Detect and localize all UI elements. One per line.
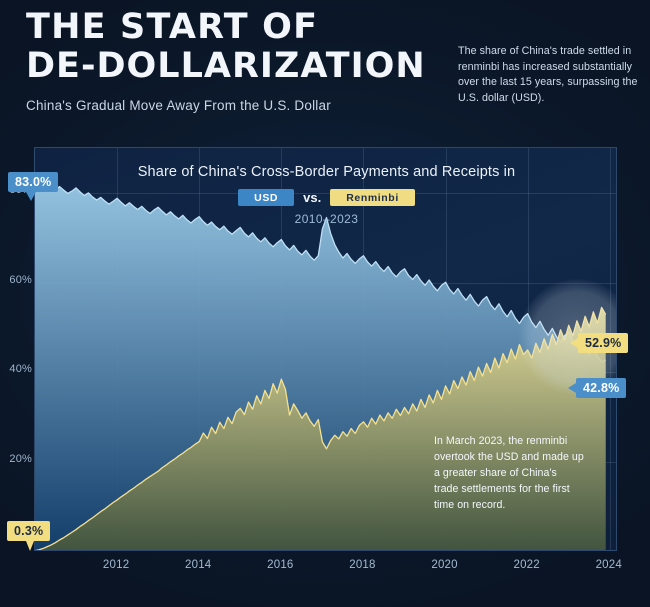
callout-renminbi-end: 52.9% (578, 333, 628, 353)
x-axis-tick-label: 2022 (513, 559, 539, 571)
callout-pointer (570, 338, 578, 348)
title-block: THE START OF DE-DOLLARIZATION China's Gr… (26, 10, 446, 113)
callout-renminbi-end-value: 52.9% (585, 336, 621, 350)
callout-usd-start: 83.0% (8, 172, 58, 192)
y-axis-tick-label: 20% (0, 453, 32, 465)
x-axis-tick-label: 2012 (103, 559, 129, 571)
x-axis-tick-label: 2018 (349, 559, 375, 571)
x-axis-tick-label: 2024 (596, 559, 622, 571)
callout-pointer (26, 192, 36, 201)
callout-usd-start-value: 83.0% (15, 175, 51, 189)
callout-pointer (26, 541, 34, 551)
callout-pointer (568, 383, 576, 393)
y-axis: 20%40%60%80% (0, 0, 34, 404)
header: THE START OF DE-DOLLARIZATION China's Gr… (0, 0, 650, 140)
intro-paragraph: The share of China's trade settled in re… (458, 44, 638, 107)
page-subtitle: China's Gradual Move Away From the U.S. … (26, 98, 446, 113)
x-axis: 2012201420162018202020222024 (34, 553, 617, 575)
y-axis-tick-label: 60% (0, 274, 32, 286)
callout-renminbi-start: 0.3% (7, 521, 50, 541)
x-axis-tick-label: 2014 (185, 559, 211, 571)
x-axis-tick-label: 2020 (431, 559, 457, 571)
infographic-root: THE START OF DE-DOLLARIZATION China's Gr… (0, 0, 650, 607)
callout-usd-end: 42.8% (576, 378, 626, 398)
crossover-annotation: In March 2023, the renminbi overtook the… (434, 434, 584, 513)
page-title-line2: DE-DOLLARIZATION (26, 49, 446, 84)
y-axis-tick-label: 40% (0, 363, 32, 375)
callout-renminbi-start-value: 0.3% (14, 524, 43, 538)
page-title-line1: THE START OF (26, 10, 446, 45)
x-axis-tick-label: 2016 (267, 559, 293, 571)
callout-usd-end-value: 42.8% (583, 381, 619, 395)
